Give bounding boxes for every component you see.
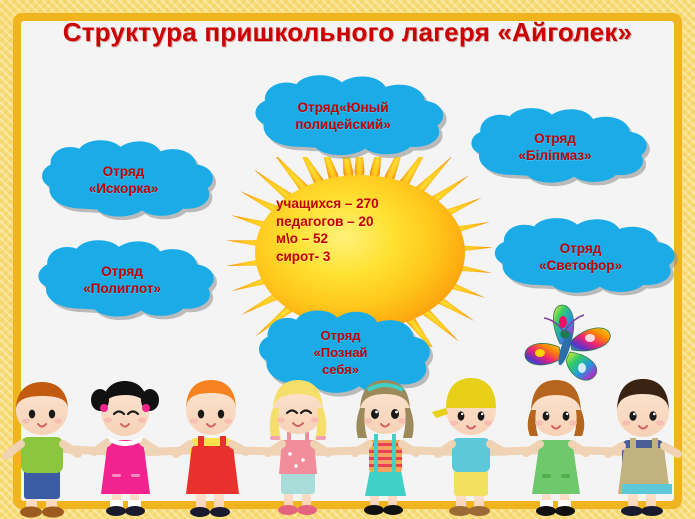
stat-students: учащихся – 270 — [276, 195, 461, 213]
cloud-label-line2: «Полиглот» — [83, 280, 161, 297]
cloud-label-line1: Отряд — [314, 327, 368, 344]
cloud-label-line1: Отряд — [83, 263, 161, 280]
cloud-label-line1: Отряд — [89, 163, 159, 180]
page-title: Структура пришкольного лагеря «Айголек» — [63, 17, 632, 48]
children-row — [0, 374, 695, 519]
child-5-girl-brown-teal — [355, 380, 416, 515]
cloud-otryad-iskorka[interactable]: Отряд «Искорка» — [26, 135, 221, 225]
children-holding-hands-illustration — [0, 374, 695, 519]
cloud-label-line1: Отряд — [518, 130, 591, 147]
cloud-label-line1: Отряд — [539, 240, 622, 257]
cloud-label-line2: полицейский» — [295, 116, 390, 133]
child-2-girl-pink-dress — [91, 381, 159, 516]
cloud-otryad-yuny-policeysky[interactable]: Отряд«Юный полицейский» — [238, 70, 448, 162]
cloud-label: Отряд «Познай себя» — [300, 327, 382, 378]
stat-orphans: сирот- 3 — [276, 248, 461, 266]
camp-statistics: учащихся – 270 педагогов – 20 м\о – 52 с… — [276, 195, 461, 265]
cloud-label-line1: Отряд«Юный — [295, 99, 390, 116]
cloud-label: Отряд «Полиглот» — [69, 263, 175, 297]
cloud-otryad-svetofor[interactable]: Отряд «Светофор» — [478, 213, 683, 301]
stat-teachers: педагогов – 20 — [276, 213, 461, 231]
child-7-girl-green-dress — [526, 380, 586, 516]
cloud-label-line2: «Познай — [314, 344, 368, 361]
child-3-boy-red-overalls — [176, 380, 246, 517]
cloud-label-line2: «Біліпмаз» — [518, 147, 591, 164]
cloud-label: Отряд«Юный полицейский» — [281, 99, 404, 133]
slide-title-bar: Структура пришкольного лагеря «Айголек» — [21, 12, 674, 52]
child-6-boy-yellow-cap — [432, 378, 504, 516]
cloud-otryad-poliglot[interactable]: Отряд «Полиглот» — [22, 235, 222, 325]
presentation-slide: Структура пришкольного лагеря «Айголек» — [0, 0, 695, 519]
cloud-label-line2: «Светофор» — [539, 257, 622, 274]
child-4-girl-blonde-pink — [268, 380, 328, 515]
cloud-label: Отряд «Біліпмаз» — [504, 130, 605, 164]
cloud-label: Отряд «Искорка» — [75, 163, 173, 197]
cloud-label: Отряд «Светофор» — [525, 240, 636, 274]
cloud-otryad-bilipmaz[interactable]: Отряд «Біліпмаз» — [455, 103, 655, 191]
stat-mo: м\о – 52 — [276, 230, 461, 248]
child-8-boy-khaki-overalls — [608, 379, 678, 516]
cloud-label-line2: «Искорка» — [89, 180, 159, 197]
child-1-boy-green-shirt — [6, 382, 78, 518]
